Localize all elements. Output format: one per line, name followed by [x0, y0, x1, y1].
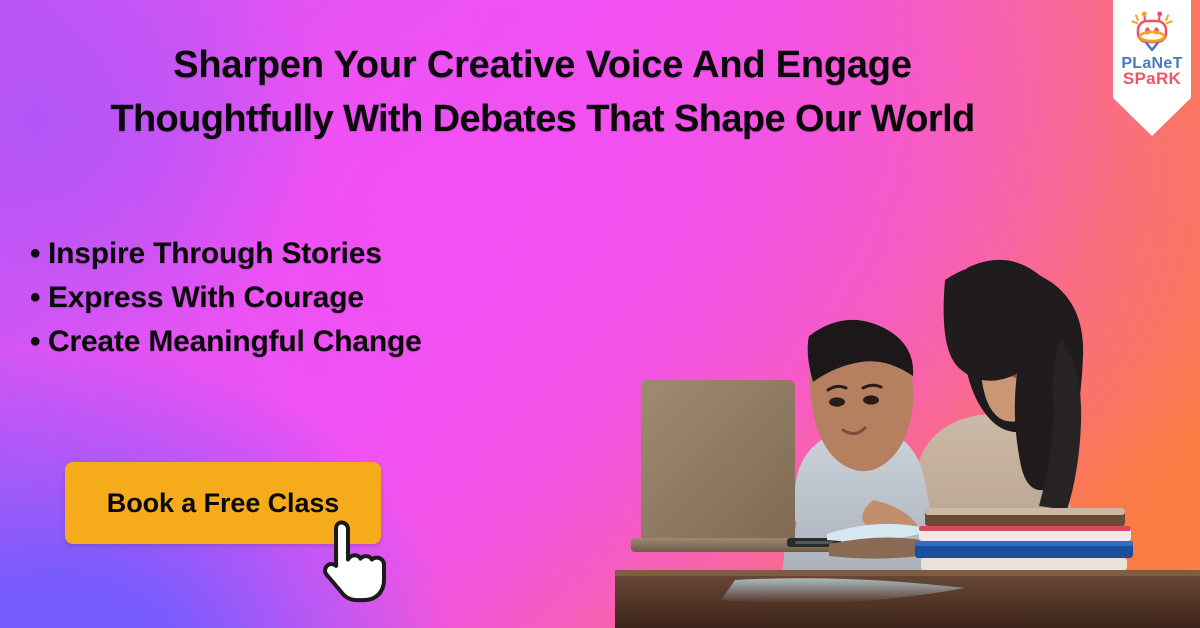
book-stack	[915, 508, 1133, 570]
planetspark-wordmark: PLaNeT SPaRK	[1121, 56, 1182, 88]
headline-line-1: Sharpen Your Creative Voice And Engage	[173, 44, 912, 86]
list-item-label: Inspire Through Stories	[48, 232, 382, 276]
bullet-marker-icon: •	[30, 232, 48, 276]
list-item: • Inspire Through Stories	[30, 232, 422, 276]
student-and-teacher-photo	[615, 208, 1200, 628]
bullet-marker-icon: •	[30, 276, 48, 320]
list-item-label: Express With Courage	[48, 276, 364, 320]
bullet-marker-icon: •	[30, 320, 48, 364]
headline-line-2: Thoughtfully With Debates That Shape Our…	[0, 93, 1085, 147]
promo-banner: Sharpen Your Creative Voice And Engage T…	[0, 0, 1200, 628]
laptop	[631, 380, 841, 552]
planetspark-logo[interactable]: PLaNeT SPaRK	[1113, 0, 1191, 136]
woman-figure	[894, 260, 1083, 628]
cta-container: Book a Free Class	[65, 462, 381, 544]
logo-word-spark: SPaRK	[1121, 71, 1182, 87]
list-item-label: Create Meaningful Change	[48, 320, 422, 364]
list-item: • Create Meaningful Change	[30, 320, 422, 364]
open-notebook	[827, 524, 935, 559]
book-a-free-class-button[interactable]: Book a Free Class	[65, 462, 381, 544]
boy-figure	[756, 320, 934, 608]
list-item: • Express With Courage	[30, 276, 422, 320]
benefits-list: • Inspire Through Stories • Express With…	[30, 232, 422, 364]
wooden-desk	[615, 570, 1200, 628]
page-title: Sharpen Your Creative Voice And Engage T…	[0, 39, 1085, 147]
planetspark-robot-mascot-icon	[1127, 10, 1177, 54]
